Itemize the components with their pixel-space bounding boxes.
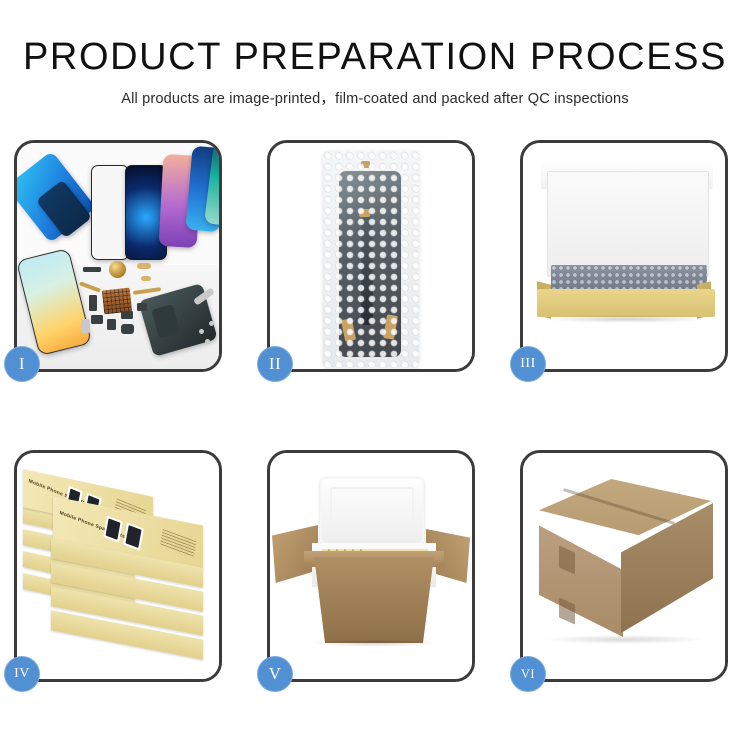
drop-shadow xyxy=(543,635,707,644)
process-step-panel-5: V xyxy=(267,450,475,682)
gold-connector-icon xyxy=(137,263,151,269)
camera-module-icon xyxy=(81,319,90,333)
small-part-icon xyxy=(89,295,97,311)
step-badge-2: II xyxy=(257,346,293,382)
process-step-panel-3: III xyxy=(520,140,728,372)
bubble-wrap-bag-icon xyxy=(323,151,419,367)
screw-icon xyxy=(209,321,214,326)
carton-left-face-icon xyxy=(539,513,623,637)
screw-icon xyxy=(205,339,210,344)
small-part-icon xyxy=(121,311,133,319)
carton-body-icon xyxy=(306,557,442,643)
page-subtitle: All products are image-printed，film-coat… xyxy=(0,87,750,108)
small-part-icon xyxy=(91,315,103,324)
process-step-panel-4: Mobile Phone Spare Parts Mobile Phone Sp… xyxy=(14,450,222,682)
step-6-image xyxy=(523,453,725,679)
step-1-image xyxy=(17,143,219,369)
step-3-image xyxy=(523,143,725,369)
page-header: PRODUCT PREPARATION PROCESS All products… xyxy=(0,34,750,108)
step-badge-1: I xyxy=(4,346,40,382)
foam-sheet-icon xyxy=(547,171,709,277)
step-badge-6: VI xyxy=(510,656,546,692)
screen-protector-icon xyxy=(91,165,129,260)
small-part-icon xyxy=(83,267,101,272)
step-badge-3: III xyxy=(510,346,546,382)
step-5-image xyxy=(270,453,472,679)
small-part-icon xyxy=(107,319,116,330)
process-step-grid: I II xyxy=(14,140,736,680)
bubble-texture-icon xyxy=(323,151,419,367)
process-step-panel-2: II xyxy=(267,140,475,372)
speaker-module-icon xyxy=(121,324,134,334)
product-preparation-process-page: PRODUCT PREPARATION PROCESS All products… xyxy=(0,0,750,750)
step-4-image: Mobile Phone Spare Parts Mobile Phone Sp… xyxy=(17,453,219,679)
gold-connector-icon xyxy=(141,276,151,281)
page-title: PRODUCT PREPARATION PROCESS xyxy=(0,34,750,80)
gold-coil-icon xyxy=(109,261,126,278)
drop-shadow xyxy=(543,315,711,323)
step-badge-5: V xyxy=(257,656,293,692)
step-badge-4: IV xyxy=(4,656,40,692)
screw-icon xyxy=(199,329,204,334)
drop-shadow xyxy=(310,639,438,647)
box-stack: Mobile Phone Spare Parts Mobile Phone Sp… xyxy=(23,467,219,667)
step-2-image xyxy=(270,143,472,369)
small-part-icon xyxy=(137,303,147,311)
process-step-panel-1: I xyxy=(14,140,222,372)
process-step-panel-6: VI xyxy=(520,450,728,682)
yellow-box-front-icon xyxy=(537,289,715,317)
styrofoam-lid-icon xyxy=(320,477,424,545)
